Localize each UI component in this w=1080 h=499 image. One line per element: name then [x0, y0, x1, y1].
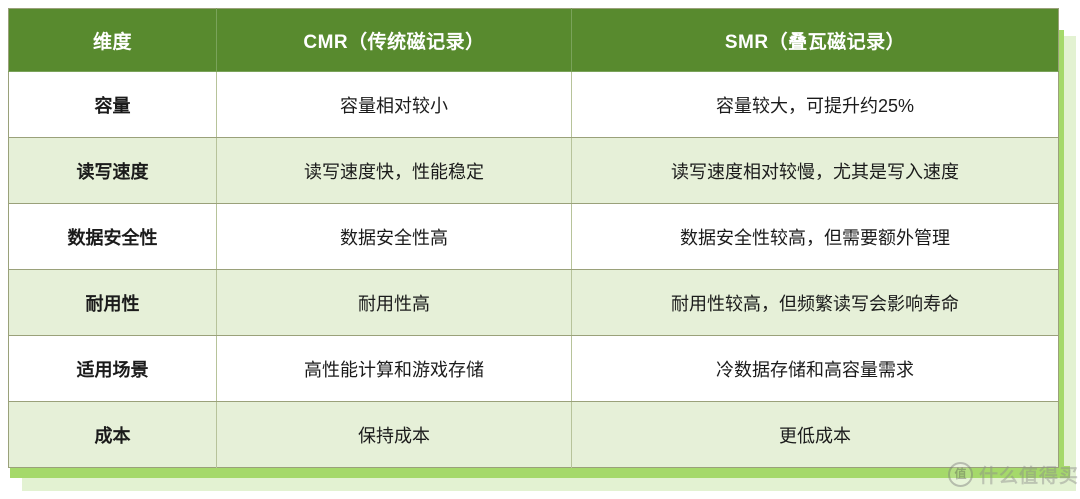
screenshot-canvas: 维度 CMR（传统磁记录） SMR（叠瓦磁记录） 容量 容量相对较小 容量较大，…: [0, 0, 1080, 499]
cell-cmr: 高性能计算和游戏存储: [217, 336, 572, 402]
column-header-dimension: 维度: [9, 9, 217, 72]
cell-smr: 数据安全性较高，但需要额外管理: [572, 204, 1059, 270]
table-body: 容量 容量相对较小 容量较大，可提升约25% 读写速度 读写速度快，性能稳定 读…: [9, 72, 1059, 468]
table-row: 数据安全性 数据安全性高 数据安全性较高，但需要额外管理: [9, 204, 1059, 270]
cell-cmr: 容量相对较小: [217, 72, 572, 138]
cmr-smr-comparison-table: 维度 CMR（传统磁记录） SMR（叠瓦磁记录） 容量 容量相对较小 容量较大，…: [8, 8, 1059, 468]
cell-smr: 更低成本: [572, 402, 1059, 468]
cell-cmr: 耐用性高: [217, 270, 572, 336]
table-row: 耐用性 耐用性高 耐用性较高，但频繁读写会影响寿命: [9, 270, 1059, 336]
cell-dimension: 读写速度: [9, 138, 217, 204]
cell-dimension: 数据安全性: [9, 204, 217, 270]
table-header: 维度 CMR（传统磁记录） SMR（叠瓦磁记录）: [9, 9, 1059, 72]
cell-smr: 读写速度相对较慢，尤其是写入速度: [572, 138, 1059, 204]
table-row: 读写速度 读写速度快，性能稳定 读写速度相对较慢，尤其是写入速度: [9, 138, 1059, 204]
accent-bar-right-pale: [1063, 36, 1076, 488]
cell-dimension: 适用场景: [9, 336, 217, 402]
table-row: 成本 保持成本 更低成本: [9, 402, 1059, 468]
accent-bar-bottom-pale: [22, 477, 1076, 491]
table-row: 容量 容量相对较小 容量较大，可提升约25%: [9, 72, 1059, 138]
table-header-row: 维度 CMR（传统磁记录） SMR（叠瓦磁记录）: [9, 9, 1059, 72]
cell-dimension: 耐用性: [9, 270, 217, 336]
cell-cmr: 读写速度快，性能稳定: [217, 138, 572, 204]
cell-smr: 冷数据存储和高容量需求: [572, 336, 1059, 402]
column-header-cmr: CMR（传统磁记录）: [217, 9, 572, 72]
cell-dimension: 容量: [9, 72, 217, 138]
cell-dimension: 成本: [9, 402, 217, 468]
cell-cmr: 保持成本: [217, 402, 572, 468]
column-header-smr: SMR（叠瓦磁记录）: [572, 9, 1059, 72]
table-row: 适用场景 高性能计算和游戏存储 冷数据存储和高容量需求: [9, 336, 1059, 402]
cell-cmr: 数据安全性高: [217, 204, 572, 270]
cell-smr: 耐用性较高，但频繁读写会影响寿命: [572, 270, 1059, 336]
cell-smr: 容量较大，可提升约25%: [572, 72, 1059, 138]
comparison-table-container: 维度 CMR（传统磁记录） SMR（叠瓦磁记录） 容量 容量相对较小 容量较大，…: [8, 8, 1058, 467]
